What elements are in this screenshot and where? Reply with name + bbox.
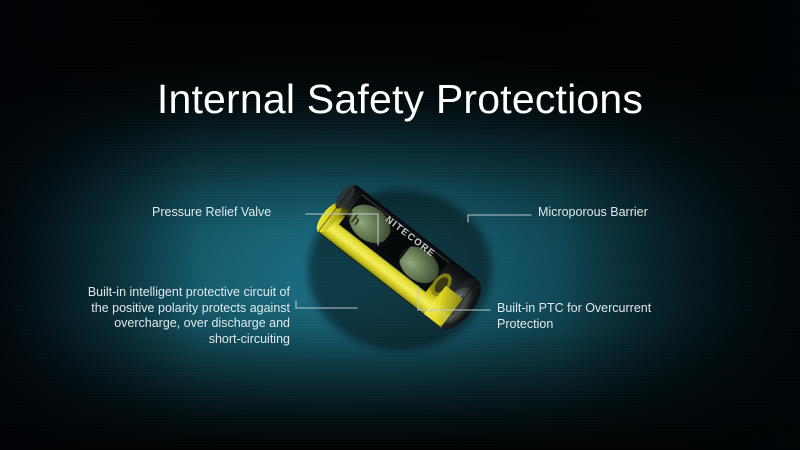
slide-canvas: NITECORE Ah bbox=[0, 0, 800, 450]
callout-label-microporous-barrier: Microporous Barrier bbox=[538, 205, 738, 221]
callout-label-pressure-relief-valve: Pressure Relief Valve bbox=[152, 205, 302, 221]
callout-label-protective-circuit: Built-in intelligent protective circuit … bbox=[20, 285, 290, 347]
background-right-fade bbox=[560, 0, 800, 450]
callout-label-ptc-overcurrent: Built-in PTC for Overcurrent Protection bbox=[497, 301, 707, 332]
background-left-fade bbox=[0, 0, 200, 450]
page-title: Internal Safety Protections bbox=[0, 76, 800, 123]
